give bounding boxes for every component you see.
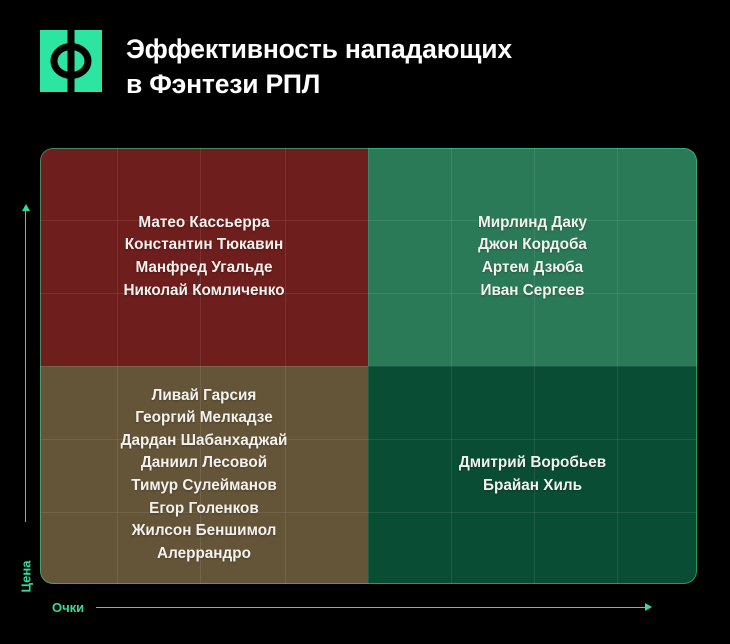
page-title: Эффективность нападающих в Фэнтези РПЛ (126, 30, 512, 102)
x-axis: Очки (52, 596, 652, 618)
y-axis-label: Цена (19, 551, 34, 603)
arrow-up-icon (25, 210, 26, 522)
quadrant-bottom-left-names: Ливай Гарсия Георгий Мелкадзе Дардан Шаб… (121, 385, 288, 566)
x-axis-label: Очки (52, 600, 84, 615)
quadrant-top-right: Мирлинд Даку Джон Кордоба Артем Дзюба Ив… (368, 148, 697, 366)
infographic-page: { "brand": { "logo_icon": "cyrillic-ef-l… (0, 0, 730, 644)
quadrant-top-left-names: Матео Кассьерра Константин Тюкавин Манфр… (123, 212, 284, 302)
arrow-right-icon (96, 607, 646, 608)
quadrant-bottom-left: Ливай Гарсия Георгий Мелкадзе Дардан Шаб… (40, 366, 368, 584)
quadrant-bottom-right: Дмитрий Воробьев Брайан Хиль (368, 366, 697, 584)
quadrant-top-right-names: Мирлинд Даку Джон Кордоба Артем Дзюба Ив… (478, 212, 587, 302)
quadrant-bottom-right-names: Дмитрий Воробьев Брайан Хиль (459, 452, 606, 497)
cyrillic-ef-logo-icon (40, 30, 102, 92)
quadrant-chart: Матео Кассьерра Константин Тюкавин Манфр… (40, 148, 697, 584)
y-axis: Цена (13, 210, 39, 580)
header: Эффективность нападающих в Фэнтези РПЛ (40, 30, 512, 102)
quadrant-top-left: Матео Кассьерра Константин Тюкавин Манфр… (40, 148, 368, 366)
